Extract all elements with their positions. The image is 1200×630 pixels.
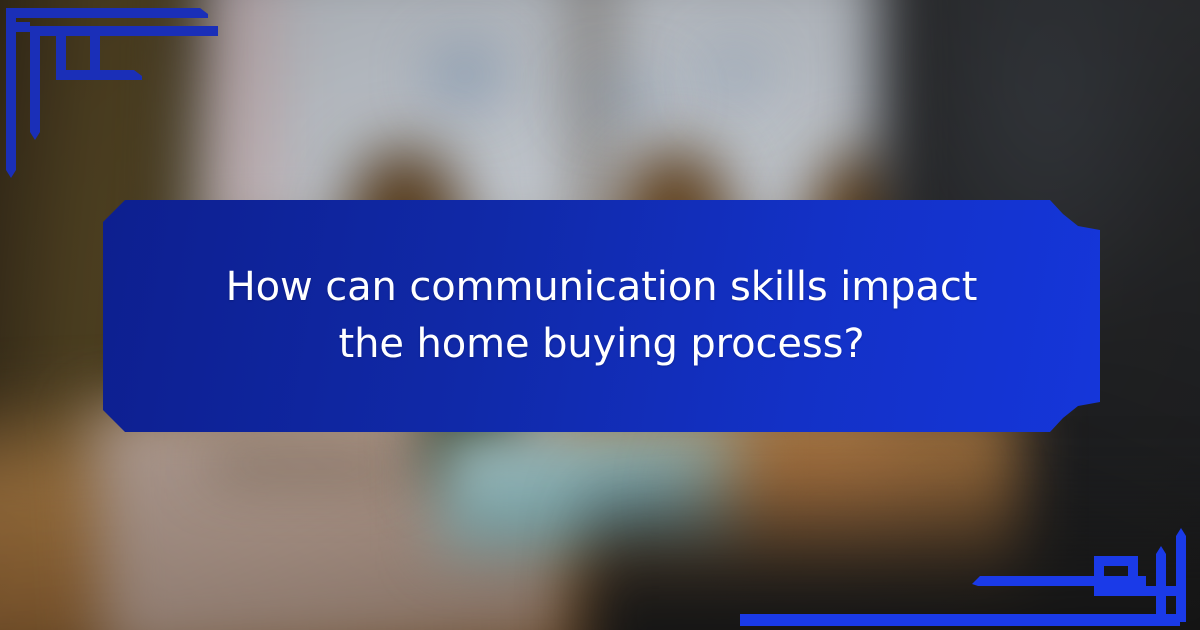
- graphic-canvas: How can communication skills impact the …: [0, 0, 1200, 630]
- headline-text: How can communication skills impact the …: [222, 259, 982, 373]
- headline-banner: How can communication skills impact the …: [103, 200, 1100, 432]
